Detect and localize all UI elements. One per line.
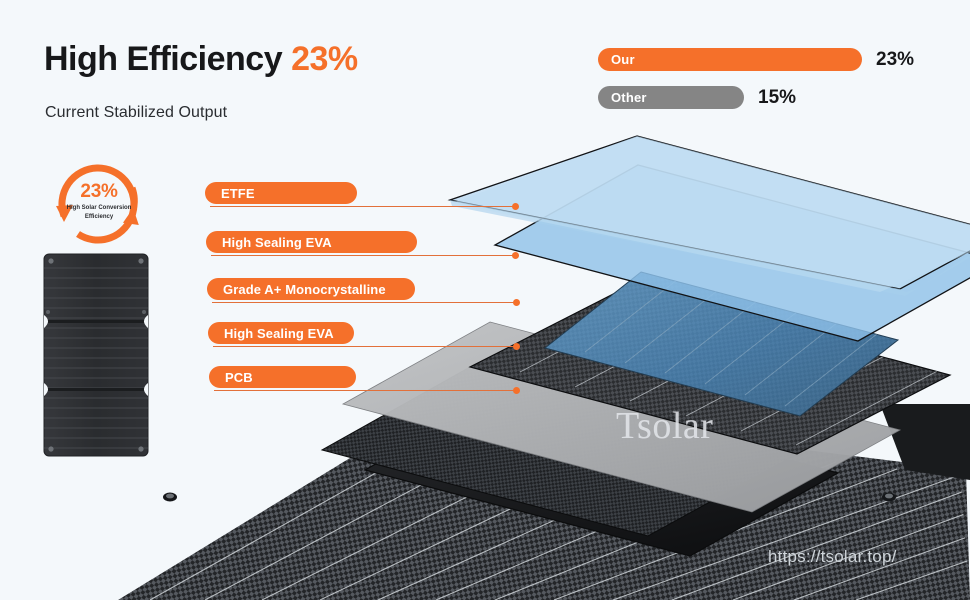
badge-caption-line2: Efficiency: [44, 213, 154, 222]
leader-line-eva-bottom: [213, 346, 518, 347]
leader-line-pcb: [214, 390, 518, 391]
leader-dot-eva-top: [512, 252, 519, 259]
bar-our-label: Our: [598, 52, 635, 67]
layer-label-pcb[interactable]: PCB: [209, 366, 356, 388]
leader-dot-eva-bottom: [513, 343, 520, 350]
badge-caption-line1: High Solar Conversion: [44, 204, 154, 213]
page-title: High Efficiency 23%: [44, 40, 358, 79]
badge-percent: 23%: [44, 181, 154, 203]
badge-caption: High Solar Conversion Efficiency: [44, 204, 154, 222]
bar-other-label: Other: [598, 90, 647, 105]
title-highlight: 23%: [291, 40, 358, 78]
page-subtitle: Current Stabilized Output: [45, 104, 227, 122]
layer-label-eva-top[interactable]: High Sealing EVA: [206, 231, 417, 253]
bar-other: Other: [598, 86, 744, 109]
solar-panel-illustration: [0, 0, 970, 600]
bar-other-value: 15%: [758, 87, 796, 109]
leader-line-etfe: [210, 206, 517, 207]
bar-our-value: 23%: [876, 49, 914, 71]
infographic-canvas: High Efficiency 23% Current Stabilized O…: [0, 0, 970, 600]
leader-dot-monocrystalline: [513, 299, 520, 306]
efficiency-badge: 23% High Solar Conversion Efficiency: [44, 158, 154, 256]
layer-label-etfe[interactable]: ETFE: [205, 182, 357, 204]
site-url: https://tsolar.top/: [768, 547, 897, 567]
leader-line-eva-top: [211, 255, 517, 256]
leader-line-monocrystalline: [212, 302, 518, 303]
layer-label-monocrystalline[interactable]: Grade A+ Monocrystalline: [207, 278, 415, 300]
leader-dot-pcb: [513, 387, 520, 394]
title-main: High Efficiency: [44, 40, 282, 78]
bar-our: Our: [598, 48, 862, 71]
folding-solar-panel: [44, 254, 148, 456]
layer-label-eva-bottom[interactable]: High Sealing EVA: [208, 322, 354, 344]
leader-dot-etfe: [512, 203, 519, 210]
